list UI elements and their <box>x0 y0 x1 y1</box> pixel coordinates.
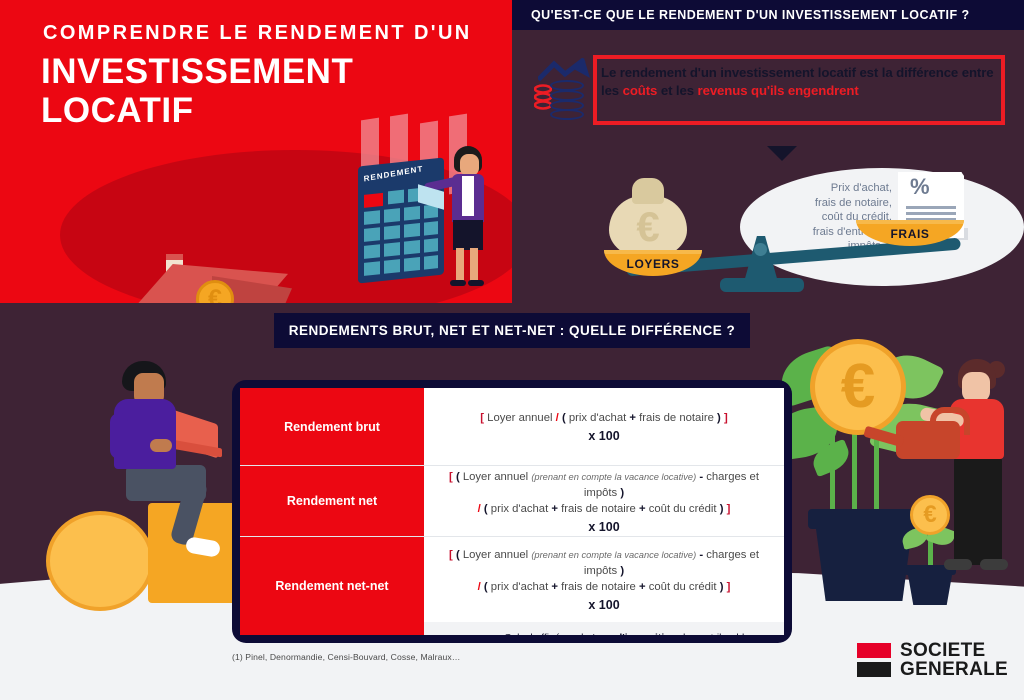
note-bold-1: taux d'imposition <box>592 633 677 635</box>
logo-wordmark: SOCIETE GENERALE <box>900 641 1008 679</box>
money-bag: € <box>609 178 687 258</box>
logo-mark-icon <box>857 643 891 677</box>
gardener-pants <box>954 455 1002 565</box>
definition-header-title: QU'EST-CE QUE LE RENDEMENT D'UN INVESTIS… <box>531 8 970 22</box>
statement-part-2: et les <box>657 83 697 98</box>
logo-line-2: GENERALE <box>900 660 1008 679</box>
table-row: Rendement net-net [ ( Loyer annuel (pren… <box>240 537 784 635</box>
person-hand <box>150 439 172 452</box>
down-arrow-icon <box>767 146 797 161</box>
gardener-face <box>962 372 990 402</box>
board-red-tile <box>364 193 383 208</box>
watering-can-body <box>896 421 960 459</box>
plant-growth-illustration: € € <box>786 333 1024 603</box>
hero-kicker: COMPRENDRE LE RENDEMENT D'UN <box>43 22 472 45</box>
formula-multiplier: x 100 <box>588 429 619 443</box>
footnote: (1) Pinel, Denormandie, Censi-Bouvard, C… <box>232 652 460 662</box>
woman-shoe <box>450 280 466 286</box>
note-text-1: Calcul affiné par le <box>504 633 592 635</box>
percent-symbol: % <box>910 174 930 200</box>
pot-body <box>816 529 912 601</box>
row-label-rendement-brut: Rendement brut <box>240 388 424 465</box>
definition-statement: Le rendement d'un investissement locatif… <box>601 64 1001 99</box>
woman-leg <box>470 248 478 282</box>
businesswoman-illustration <box>440 146 500 286</box>
comparison-header-band: RENDEMENTS BRUT, NET ET NET-NET : QUELLE… <box>274 313 750 348</box>
infographic-page: € RENDEMENT <box>0 0 1024 700</box>
woman-skirt <box>453 220 483 250</box>
page-title: INVESTISSEMENT LOCATIF <box>41 52 353 130</box>
loyers-label: LOYERS <box>604 257 702 271</box>
board-cell <box>424 238 438 252</box>
board-cell <box>364 210 380 225</box>
yield-formula-table: Rendement brut [ Loyer annuel / ( prix d… <box>240 388 784 635</box>
board-cell <box>404 206 420 221</box>
person-with-laptop-illustration <box>86 361 236 591</box>
formula-line: [ Loyer annuel / ( prix d'achat + frais … <box>480 410 727 426</box>
row-content-rendement-net-net: [ ( Loyer annuel (prenant en compte la v… <box>424 537 784 635</box>
row-label-rendement-net-net: Rendement net-net <box>240 537 424 635</box>
board-cell <box>384 242 400 257</box>
large-coin-side <box>46 511 154 611</box>
board-cell <box>388 190 404 205</box>
table-row: Rendement net [ ( Loyer annuel (prenant … <box>240 466 784 537</box>
formula-multiplier: x 100 <box>588 598 619 612</box>
board-cell <box>404 223 420 238</box>
growth-coins-icon <box>530 58 594 120</box>
bag-euro-symbol: € <box>609 204 687 250</box>
board-cell <box>384 259 400 274</box>
person-arm <box>110 413 128 459</box>
doc-text-line <box>906 212 956 215</box>
board-cell <box>384 225 400 240</box>
societe-generale-logo: SOCIETE GENERALE <box>857 641 1008 679</box>
scale-pivot-dot <box>754 243 767 256</box>
house-illustration: € <box>62 128 262 288</box>
frais-label: FRAIS <box>856 227 964 241</box>
statement-highlight-revenues: revenus qu'ils engendrent <box>698 83 859 98</box>
woman-shirt <box>462 176 474 216</box>
pot-rim <box>808 509 920 529</box>
doc-text-line <box>906 206 956 209</box>
logo-line-1: SOCIETE <box>900 641 1008 660</box>
woman-leg <box>456 248 464 282</box>
definition-section: QU'EST-CE QUE LE RENDEMENT D'UN INVESTIS… <box>512 0 1024 303</box>
tax-note: Calcul affiné par le taux d'imposition d… <box>424 622 784 635</box>
rendement-board: RENDEMENT <box>358 157 444 283</box>
tax-note-text: Calcul affiné par le taux d'imposition d… <box>504 632 770 635</box>
comparison-header-title: RENDEMENTS BRUT, NET ET NET-NET : QUELLE… <box>274 323 750 338</box>
table-row: Rendement brut [ Loyer annuel / ( prix d… <box>240 388 784 466</box>
cost-line: frais de notaire, <box>742 196 892 211</box>
logo-red-block <box>857 643 891 658</box>
row-formula-rendement-brut: [ Loyer annuel / ( prix d'achat + frais … <box>424 388 784 465</box>
board-cell <box>424 255 438 269</box>
hero-section: € RENDEMENT <box>0 0 512 303</box>
woman-shoe <box>468 280 484 286</box>
cost-line: Prix d'achat, <box>742 181 892 196</box>
board-cell <box>404 257 420 272</box>
big-euro-coin: € <box>810 339 906 435</box>
row-formula-rendement-net-net: [ ( Loyer annuel (prenant en compte la v… <box>424 537 784 622</box>
hero-title-line-2: LOCATIF <box>41 91 353 130</box>
formula-line: [ ( Loyer annuel (prenant en compte la v… <box>432 469 776 501</box>
statement-highlight-costs: coûts <box>623 83 658 98</box>
coin <box>550 109 584 120</box>
coin-stack-icon <box>550 80 584 120</box>
row-label-rendement-net: Rendement net <box>240 466 424 536</box>
board-cell <box>424 221 438 235</box>
board-cell <box>364 227 380 242</box>
yield-formula-table-wrapper: Rendement brut [ Loyer annuel / ( prix d… <box>232 380 792 643</box>
formula-line: [ ( Loyer annuel (prenant en compte la v… <box>432 547 776 579</box>
board-cell <box>404 240 420 255</box>
woman-face <box>460 154 479 176</box>
gardener-shoe <box>944 559 972 570</box>
formula-line: / ( prix d'achat + frais de notaire + co… <box>478 501 731 517</box>
logo-black-block <box>857 662 891 677</box>
row-formula-rendement-net: [ ( Loyer annuel (prenant en compte la v… <box>424 466 784 536</box>
board-cell <box>384 208 400 223</box>
gardener-shoe <box>980 559 1008 570</box>
formula-line: / ( prix d'achat + frais de notaire + co… <box>478 579 731 595</box>
board-cell <box>364 261 380 276</box>
bag-neck <box>632 178 664 204</box>
board-cell <box>364 244 380 259</box>
hero-title-line-1: INVESTISSEMENT <box>41 52 353 91</box>
gardener-woman-illustration <box>936 359 1024 607</box>
formula-multiplier: x 100 <box>588 520 619 534</box>
